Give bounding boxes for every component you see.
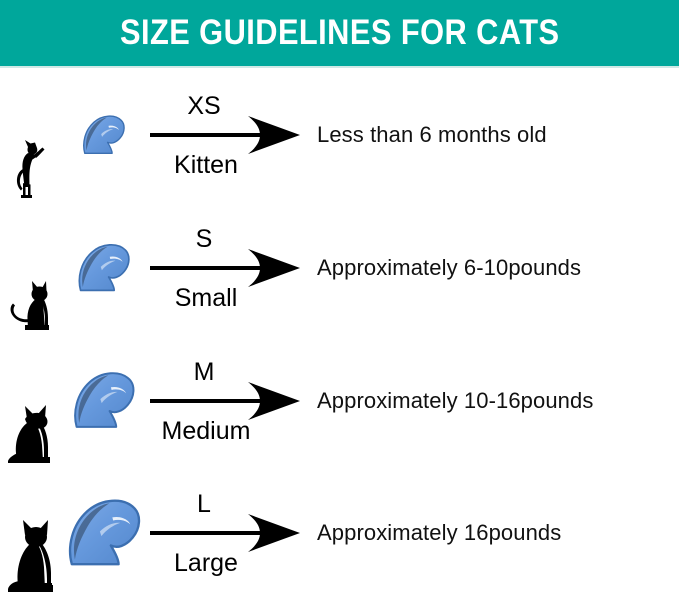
- size-arrow-cell: L Large: [144, 467, 309, 599]
- cat-silhouette-cell: [0, 68, 62, 201]
- arrow-group: M Medium: [150, 358, 302, 444]
- nail-cap-s-icon: [75, 242, 131, 294]
- cat-sitting-medium-icon: [5, 401, 57, 467]
- arrow-group: S Small: [150, 225, 302, 311]
- description-text: Less than 6 months old: [317, 122, 547, 148]
- cat-sitting-large-icon: [3, 519, 59, 599]
- description-text: Approximately 16pounds: [317, 520, 561, 546]
- description-cell: Approximately 16pounds: [309, 467, 679, 599]
- cat-silhouette-cell: [0, 467, 62, 599]
- nail-cap-xs-icon: [80, 114, 126, 156]
- size-name-label: Kitten: [150, 153, 262, 178]
- cat-silhouette-cell: [0, 334, 62, 467]
- size-arrow-cell: S Small: [144, 201, 309, 334]
- page-title: SIZE GUIDELINES FOR CATS: [120, 13, 560, 53]
- size-name-label: Small: [150, 286, 262, 311]
- description-cell: Less than 6 months old: [309, 68, 679, 201]
- nail-cap-cell: [62, 201, 144, 334]
- size-arrow-cell: M Medium: [144, 334, 309, 467]
- nail-cap-cell: [62, 68, 144, 201]
- size-rows: XS Kitten Less than 6 months old: [0, 68, 679, 599]
- cat-standing-kitten-icon: [11, 139, 51, 201]
- description-text: Approximately 6-10pounds: [317, 255, 581, 281]
- nail-cap-l-icon: [64, 497, 142, 569]
- size-name-label: Medium: [150, 419, 262, 444]
- table-row: S Small Approximately 6-10pounds: [0, 201, 679, 334]
- cat-silhouette-cell: [0, 201, 62, 334]
- nail-cap-cell: [62, 334, 144, 467]
- table-row: M Medium Approximately 10-16pounds: [0, 334, 679, 467]
- table-row: L Large Approximately 16pounds: [0, 467, 679, 599]
- cat-sitting-small-icon: [7, 278, 55, 334]
- size-name-label: Large: [150, 551, 262, 576]
- header-band: SIZE GUIDELINES FOR CATS: [0, 0, 679, 66]
- description-cell: Approximately 10-16pounds: [309, 334, 679, 467]
- description-text: Approximately 10-16pounds: [317, 388, 593, 414]
- size-arrow-cell: XS Kitten: [144, 68, 309, 201]
- arrow-group: XS Kitten: [150, 92, 302, 178]
- nail-cap-m-icon: [70, 370, 136, 431]
- size-guide-page: SIZE GUIDELINES FOR CATS: [0, 0, 679, 599]
- table-row: XS Kitten Less than 6 months old: [0, 68, 679, 201]
- description-cell: Approximately 6-10pounds: [309, 201, 679, 334]
- arrow-group: L Large: [150, 490, 302, 576]
- nail-cap-cell: [62, 467, 144, 599]
